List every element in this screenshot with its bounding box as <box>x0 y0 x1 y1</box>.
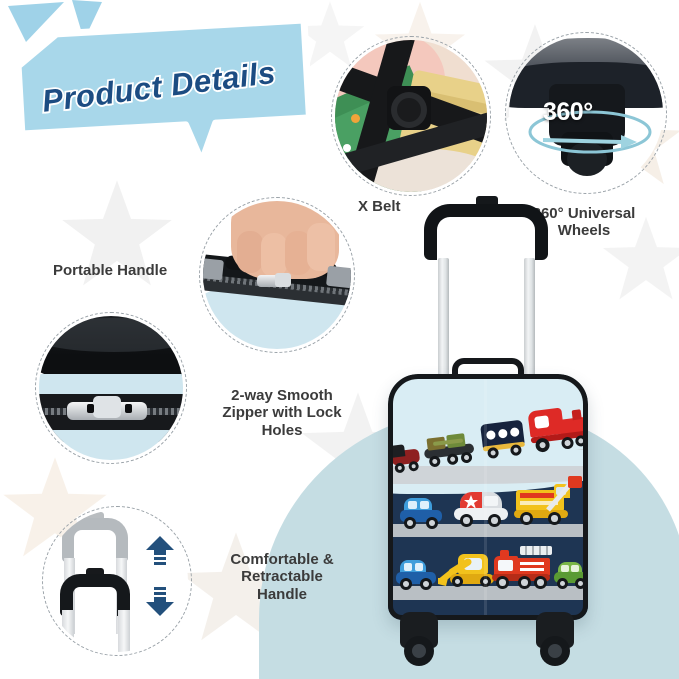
vehicle-dark-train-engine <box>391 446 424 475</box>
arrow-down-icon <box>144 586 176 618</box>
feature-photo-universal-wheels: 360° <box>505 32 667 194</box>
spinner-wheel-icon: 360° <box>509 36 663 190</box>
shell-seam <box>484 374 487 620</box>
suitcase-shell <box>388 374 588 620</box>
wheel-hub-right <box>548 644 562 658</box>
feature-photo-portable-handle <box>199 197 355 353</box>
vehicle-white-ambulance <box>454 492 510 528</box>
fire-ladder-icon <box>516 540 556 562</box>
feature-photo-x-belt <box>331 36 491 196</box>
vehicle-blue-car <box>400 498 444 528</box>
vehicle-green-car <box>554 562 588 590</box>
product-details-banner: Product Details <box>4 13 324 178</box>
kids-suitcase-product-image <box>370 196 605 666</box>
label-retractable-handle: Comfortable & Retractable Handle <box>216 551 348 603</box>
vehicle-red-locomotive <box>527 405 588 458</box>
banner-title: Product Details <box>40 55 278 120</box>
feature-photo-zipper <box>35 312 187 464</box>
vehicle-yellow-excavator <box>440 554 496 590</box>
telescoping-handle-icon <box>46 510 188 652</box>
belt-buckle-icon <box>335 40 487 192</box>
handle-pole-right <box>524 258 535 380</box>
wheel-hub-left <box>412 644 426 658</box>
vehicle-log-flatcar <box>422 433 477 467</box>
label-portable-handle: Portable Handle <box>53 262 167 279</box>
vehicle-red-fire-truck <box>492 544 556 592</box>
vehicle-navy-passenger-car <box>480 419 528 458</box>
feature-photo-retractable-handle <box>42 506 192 656</box>
telescoping-handle-grip[interactable] <box>424 204 548 260</box>
handle-pole-left <box>438 258 449 380</box>
hand-grip-icon <box>203 201 351 349</box>
vehicle-blue-car-2 <box>396 560 438 590</box>
label-smooth-zipper: 2-way Smooth Zipper with Lock Holes <box>212 387 352 439</box>
product-details-infographic: Product Details <box>0 0 679 679</box>
wheels-360-badge: 360° <box>543 98 593 127</box>
crane-arm-decor <box>542 474 588 514</box>
zipper-pull-icon <box>39 316 183 460</box>
arrow-up-icon <box>144 534 176 566</box>
